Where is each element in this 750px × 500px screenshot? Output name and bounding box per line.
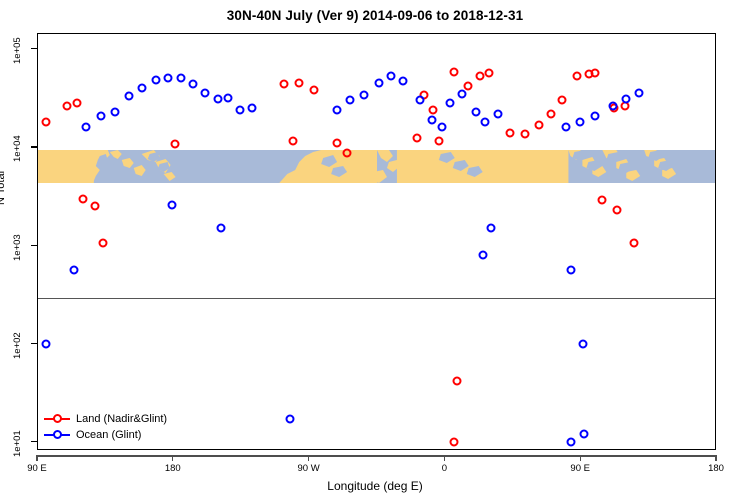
- x-tick-label: 180: [708, 463, 724, 474]
- data-point: [598, 196, 607, 205]
- data-point: [332, 139, 341, 148]
- data-point: [168, 200, 177, 209]
- legend-marker-land: [44, 413, 70, 424]
- data-point: [429, 105, 438, 114]
- data-point: [224, 93, 233, 102]
- data-point: [630, 239, 639, 248]
- section-divider: [38, 298, 715, 299]
- data-point: [412, 133, 421, 142]
- data-point: [332, 105, 341, 114]
- x-tick-mark: [444, 455, 445, 461]
- plot-area: [38, 34, 715, 449]
- data-point: [201, 88, 210, 97]
- data-point: [613, 205, 622, 214]
- data-point: [213, 94, 222, 103]
- data-point: [73, 99, 82, 108]
- legend-label-land: Land (Nadir&Glint): [76, 413, 167, 425]
- data-point: [387, 72, 396, 81]
- legend-label-ocean: Ocean (Glint): [76, 429, 141, 441]
- data-point: [399, 77, 408, 86]
- data-point: [547, 109, 556, 118]
- data-point: [236, 105, 245, 114]
- x-tick-mark: [172, 455, 173, 461]
- data-point: [427, 115, 436, 124]
- data-point: [485, 68, 494, 77]
- x-tick-mark: [36, 455, 37, 461]
- x-axis-label: Longitude (deg E): [0, 479, 750, 493]
- y-tick-label: 1e+02: [12, 332, 23, 359]
- data-point: [453, 376, 462, 385]
- data-point: [279, 80, 288, 89]
- data-point: [82, 123, 91, 132]
- data-point: [310, 86, 319, 95]
- data-point: [346, 96, 355, 105]
- data-point: [590, 68, 599, 77]
- y-axis-label: N Total: [0, 171, 7, 205]
- x-axis-line: [37, 455, 716, 457]
- data-point: [124, 92, 133, 101]
- data-point: [534, 120, 543, 129]
- data-point: [575, 118, 584, 127]
- data-point: [41, 339, 50, 348]
- data-point: [98, 239, 107, 248]
- legend-item-land: Land (Nadir&Glint): [44, 411, 167, 426]
- x-tick-mark: [308, 455, 309, 461]
- y-tick-label: 1e+01: [12, 430, 23, 457]
- data-point: [285, 415, 294, 424]
- data-point: [608, 102, 617, 111]
- legend-marker-ocean: [44, 429, 70, 440]
- data-point: [171, 140, 180, 149]
- data-point: [289, 137, 298, 146]
- data-point: [163, 73, 172, 82]
- data-point: [70, 266, 79, 275]
- world-map-band: [38, 150, 715, 183]
- x-tick-mark: [580, 455, 581, 461]
- legend-item-ocean: Ocean (Glint): [44, 427, 167, 442]
- x-tick-label: 90 E: [27, 463, 47, 474]
- data-point: [634, 88, 643, 97]
- x-tick-mark: [715, 455, 716, 461]
- y-tick-label: 1e+04: [12, 136, 23, 163]
- data-point: [189, 80, 198, 89]
- data-point: [578, 339, 587, 348]
- data-point: [450, 438, 459, 447]
- data-point: [590, 111, 599, 120]
- plot-frame: [37, 33, 716, 450]
- y-tick-mark: [31, 343, 37, 344]
- y-tick-label: 1e+05: [12, 37, 23, 64]
- world-map-svg: [38, 150, 715, 183]
- y-tick-label: 1e+03: [12, 234, 23, 261]
- data-point: [79, 194, 88, 203]
- data-point: [479, 251, 488, 260]
- data-point: [566, 438, 575, 447]
- data-point: [566, 266, 575, 275]
- data-point: [506, 128, 515, 137]
- y-tick-mark: [31, 245, 37, 246]
- chart-legend: Land (Nadir&Glint) Ocean (Glint): [44, 411, 167, 442]
- x-tick-label: 0: [442, 463, 447, 474]
- data-point: [580, 430, 589, 439]
- data-point: [480, 118, 489, 127]
- data-point: [375, 79, 384, 88]
- data-point: [562, 123, 571, 132]
- y-tick-mark: [31, 441, 37, 442]
- data-point: [464, 82, 473, 91]
- data-point: [151, 76, 160, 85]
- data-point: [445, 99, 454, 108]
- x-tick-label: 90 W: [298, 463, 320, 474]
- data-point: [41, 118, 50, 127]
- x-tick-label: 90 E: [570, 463, 590, 474]
- data-point: [359, 91, 368, 100]
- data-point: [438, 123, 447, 132]
- data-point: [110, 107, 119, 116]
- data-point: [450, 67, 459, 76]
- y-tick-mark: [31, 146, 37, 147]
- data-point: [97, 111, 106, 120]
- data-point: [494, 109, 503, 118]
- x-tick-label: 180: [165, 463, 181, 474]
- data-point: [471, 107, 480, 116]
- y-tick-mark: [31, 48, 37, 49]
- data-point: [557, 96, 566, 105]
- data-point: [248, 104, 257, 113]
- data-point: [295, 79, 304, 88]
- data-point: [216, 224, 225, 233]
- data-point: [343, 148, 352, 157]
- data-point: [435, 137, 444, 146]
- data-point: [572, 72, 581, 81]
- data-point: [138, 84, 147, 93]
- data-point: [622, 94, 631, 103]
- chart-root: 30N-40N July (Ver 9) 2014-09-06 to 2018-…: [0, 0, 750, 500]
- data-point: [62, 102, 71, 111]
- chart-title: 30N-40N July (Ver 9) 2014-09-06 to 2018-…: [0, 8, 750, 23]
- data-point: [457, 89, 466, 98]
- data-point: [476, 72, 485, 81]
- data-point: [486, 224, 495, 233]
- data-point: [91, 202, 100, 211]
- data-point: [177, 73, 186, 82]
- data-point: [415, 96, 424, 105]
- data-point: [521, 130, 530, 139]
